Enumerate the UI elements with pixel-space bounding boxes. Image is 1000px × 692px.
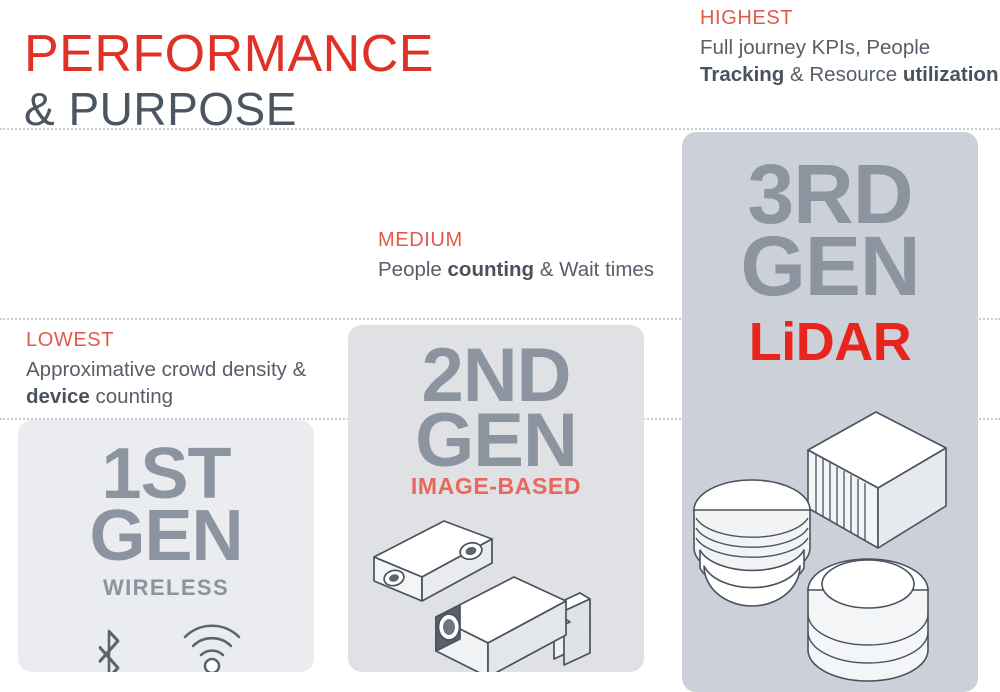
guide-line-upper [0,128,1000,130]
page-title: PERFORMANCE & PURPOSE [24,26,544,136]
camera-illustration-group [358,505,634,672]
desc-text-1b: counting [90,385,173,408]
gen-heading-3-line2: GEN [682,230,978,302]
gen-heading-2-line2: GEN [348,408,644,473]
desc-text-1a: Approximative crowd density & [26,358,306,381]
bluetooth-icon [86,616,132,672]
rank-label-medium: MEDIUM [378,228,678,254]
caption-tier-3: HIGHEST Full journey KPIs, People Tracki… [700,6,1000,89]
lidar-illustration-group [690,398,972,692]
gen-heading-1: 1ST GEN [18,444,314,568]
icon-row-tier-1 [18,616,314,672]
stereo-sensor-icon [374,521,492,601]
desc-text-3a: Full journey KPIs, People [700,36,930,59]
gen-heading-1-line2: GEN [18,506,314,568]
description-tier-3: Full journey KPIs, People Tracking & Res… [700,34,1000,89]
desc-text-2b: & Wait times [534,258,654,281]
description-tier-2: People counting & Wait times [378,256,678,283]
title-line-performance: PERFORMANCE [24,26,544,82]
desc-text-3b: & Resource [784,63,903,86]
wifi-icon [178,618,246,672]
box-camera-icon [436,577,590,672]
desc-text-2a: People [378,258,448,281]
gen-subtitle-lidar: LiDAR [682,315,978,369]
card-tier-3[interactable]: 3RD GEN LiDAR [682,132,978,692]
dome-lidar-icon [694,480,810,606]
description-tier-1: Approximative crowd density & device cou… [26,356,336,411]
caption-tier-1: LOWEST Approximative crowd density & dev… [26,328,336,411]
desc-bold-3a: Tracking [700,63,784,86]
card-tier-2[interactable]: 2ND GEN IMAGE-BASED [348,325,644,672]
desc-bold-2: counting [448,258,535,281]
gen-subtitle-image-based: IMAGE-BASED [348,475,644,498]
gen-heading-3: 3RD GEN [682,158,978,302]
gen-heading-2: 2ND GEN [348,343,644,474]
puck-lidar-icon [808,559,928,681]
caption-tier-2: MEDIUM People counting & Wait times [378,228,678,283]
desc-bold-3b: utilization [903,63,999,86]
rank-label-lowest: LOWEST [26,328,336,354]
cube-lidar-icon [808,412,946,548]
gen-subtitle-wireless: WIRELESS [18,577,314,599]
card-tier-1[interactable]: 1ST GEN WIRELESS [18,420,314,672]
rank-label-highest: HIGHEST [700,6,1000,32]
desc-bold-1: device [26,385,90,408]
